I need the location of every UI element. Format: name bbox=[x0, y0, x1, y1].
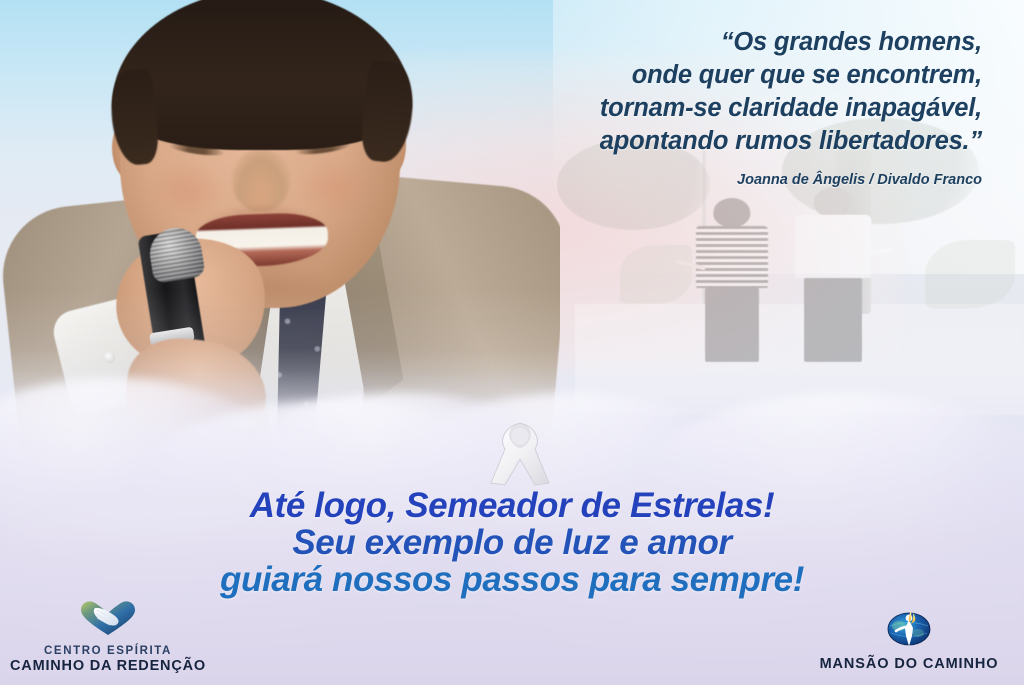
logo-mansao-do-caminho: MANSÃO DO CAMINHO bbox=[804, 606, 1014, 673]
headline-line-1: Até logo, Semeador de Estrelas! bbox=[0, 487, 1024, 524]
headline-line-2: Seu exemplo de luz e amor bbox=[0, 524, 1024, 561]
portrait-hair-right bbox=[359, 60, 417, 164]
logo-centro-espirita-line-1: CENTRO ESPÍRITA bbox=[8, 645, 208, 658]
portrait-cheek-right bbox=[300, 160, 372, 216]
logo-mansao-do-caminho-label: MANSÃO DO CAMINHO bbox=[804, 656, 1014, 673]
portrait-cuff-button bbox=[104, 352, 115, 363]
background-photo-fence bbox=[925, 309, 997, 351]
logo-centro-espirita: CENTRO ESPÍRITA CAMINHO DA REDENÇÃO bbox=[8, 599, 208, 675]
portrait-cheek-left bbox=[150, 162, 222, 218]
headline-line-3: guiará nossos passos para sempre! bbox=[0, 561, 1024, 598]
background-photo-person-striped bbox=[696, 198, 768, 362]
background-photo-person-head bbox=[713, 198, 750, 228]
portrait-nose bbox=[232, 150, 290, 212]
background-photo-person-legs bbox=[705, 288, 760, 362]
heart-hands-icon bbox=[8, 599, 208, 642]
background-photo-palm bbox=[620, 245, 692, 303]
background-photo-person-torso bbox=[696, 226, 768, 288]
quote-line-1: “Os grandes homens, bbox=[462, 26, 982, 59]
background-photo-palm bbox=[925, 240, 1015, 309]
background-photo-person-head bbox=[814, 187, 852, 217]
quote-line-4: apontando rumos libertadores.” bbox=[462, 125, 982, 158]
globe-flame-icon bbox=[804, 606, 1014, 653]
quote-attribution: Joanna de Ângelis / Divaldo Franco bbox=[462, 172, 982, 188]
quote-line-3: tornam-se claridade inapagável, bbox=[462, 92, 982, 125]
background-photo-person-white bbox=[795, 187, 871, 362]
mourning-ribbon-icon bbox=[485, 413, 555, 491]
memorial-poster: “Os grandes homens, onde quer que se enc… bbox=[0, 0, 1024, 685]
background-photo-person-torso bbox=[795, 215, 871, 278]
background-photo-person-legs bbox=[804, 278, 862, 362]
quote-line-2: onde quer que se encontrem, bbox=[462, 59, 982, 92]
headline-block: Até logo, Semeador de Estrelas! Seu exem… bbox=[0, 487, 1024, 598]
quote-block: “Os grandes homens, onde quer que se enc… bbox=[462, 26, 982, 158]
logo-centro-espirita-line-2: CAMINHO DA REDENÇÃO bbox=[8, 658, 208, 675]
